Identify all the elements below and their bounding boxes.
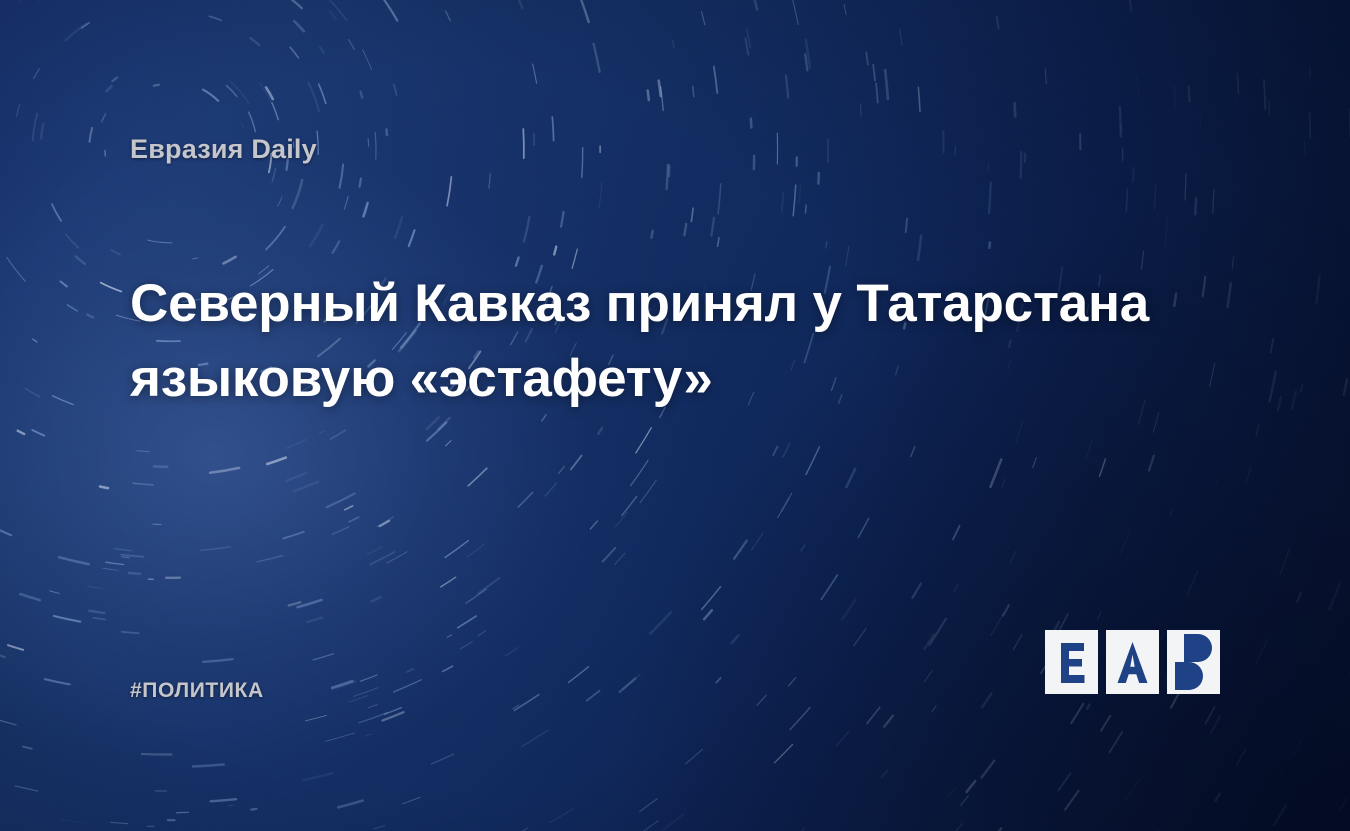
category-hashtag: #ПОЛИТИКА — [130, 679, 264, 703]
page-title: Северный Кавказ принял у Татарстана язык… — [130, 266, 1220, 417]
logo-tile-e — [1045, 630, 1098, 694]
news-card: Евразия Daily Северный Кавказ принял у Т… — [0, 0, 1350, 831]
logo-tile-d-split — [1167, 630, 1220, 694]
ead-logo — [1045, 630, 1220, 694]
brand-wordmark: Евразия Daily — [130, 134, 317, 165]
logo-tile-a — [1106, 630, 1159, 694]
